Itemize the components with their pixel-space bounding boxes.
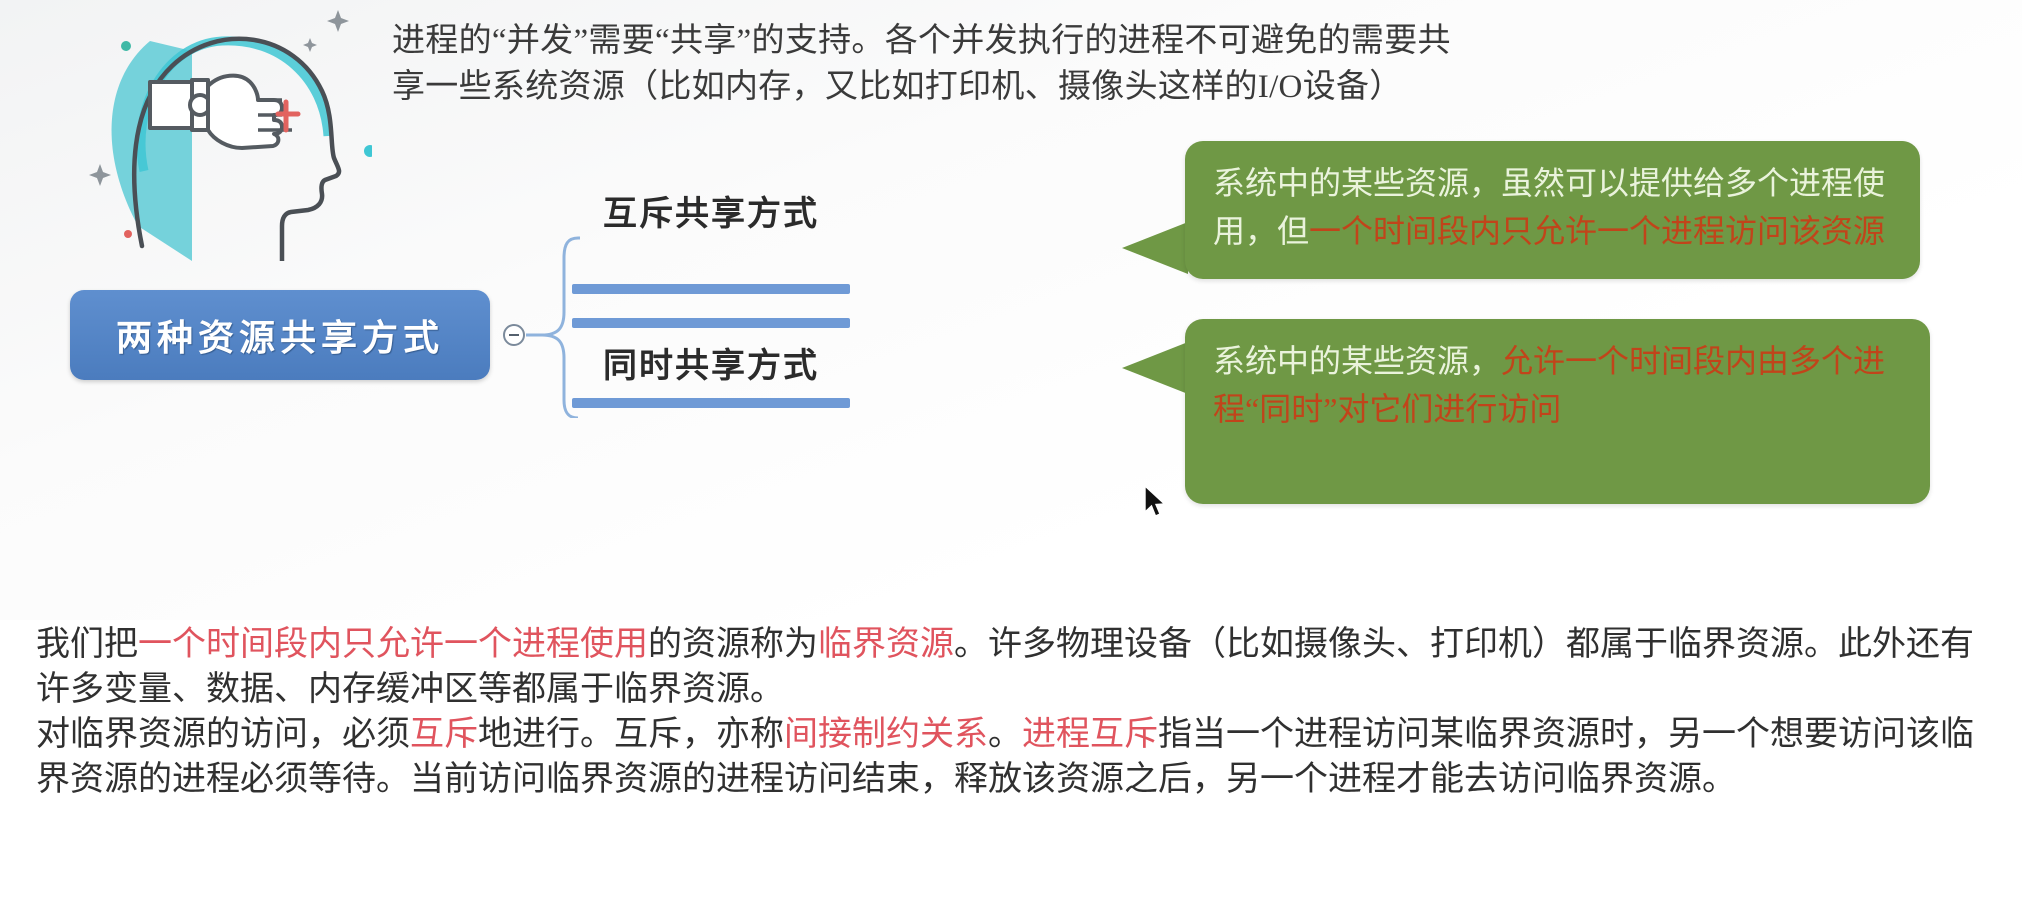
callout-text-plain: 系统中的某些资源， bbox=[1213, 343, 1501, 379]
head-with-fist-idea-illustration bbox=[42, 0, 372, 261]
p2-seg-3: 间接制约关系 bbox=[784, 716, 988, 753]
body-paragraph-1: 我们把一个时间段内只允许一个进程使用的资源称为临界资源。许多物理设备（比如摄像头… bbox=[36, 622, 2006, 712]
mindmap-branch-simultaneous[interactable]: 同时共享方式 bbox=[572, 318, 850, 374]
p2-seg-0: 对临界资源的访问，必须 bbox=[36, 716, 410, 753]
mindmap-branch-bar-top bbox=[572, 318, 850, 328]
p2-seg-1: 互斥 bbox=[410, 716, 478, 753]
callout-text-highlight: 一个时间段内只允许一个进程访问该资源 bbox=[1309, 213, 1885, 249]
callout-simultaneous-sharing: 系统中的某些资源，允许一个时间段内由多个进程“同时”对它们进行访问 bbox=[1185, 319, 1930, 504]
mindmap-root-node[interactable]: 两种资源共享方式 bbox=[70, 290, 490, 380]
mindmap-branch-mutual-exclusive[interactable]: 互斥共享方式 bbox=[572, 230, 850, 286]
callout-tail-mutual-exclusive bbox=[1122, 222, 1188, 274]
p2-seg-5: 进程互斥 bbox=[1022, 716, 1158, 753]
mindmap-branch-label: 同时共享方式 bbox=[572, 338, 850, 387]
p2-seg-2: 地进行。互斥，亦称 bbox=[478, 716, 784, 753]
callout-mutual-exclusive-sharing: 系统中的某些资源，虽然可以提供给多个进程使用，但一个时间段内只允许一个进程访问该… bbox=[1185, 141, 1920, 279]
body-text: 我们把一个时间段内只允许一个进程使用的资源称为临界资源。许多物理设备（比如摄像头… bbox=[36, 622, 2006, 802]
mindmap-branch-label: 互斥共享方式 bbox=[572, 186, 850, 235]
mindmap-branch-bar bbox=[572, 284, 850, 294]
callout-tail-simultaneous bbox=[1122, 342, 1188, 394]
p2-seg-4: 。 bbox=[988, 716, 1022, 753]
intro-paragraph-line-2: 享一些系统资源（比如内存，又比如打印机、摄像头这样的I/O设备） bbox=[392, 64, 1527, 110]
body-paragraph-2: 对临界资源的访问，必须互斥地进行。互斥，亦称间接制约关系。进程互斥指当一个进程访… bbox=[36, 712, 2006, 802]
mindmap-branch-bar bbox=[572, 398, 850, 408]
intro-paragraph-line-1: 进程的“并发”需要“共享”的支持。各个并发执行的进程不可避免的需要共 bbox=[392, 23, 1451, 59]
p1-seg-1: 一个时间段内只允许一个进程使用 bbox=[138, 626, 648, 663]
p1-seg-3: 临界资源 bbox=[818, 626, 954, 663]
mindmap-root-label: 两种资源共享方式 bbox=[116, 309, 444, 361]
p1-seg-2: 的资源称为 bbox=[648, 626, 818, 663]
mindmap: 两种资源共享方式 互斥共享方式 同时共享方式 bbox=[60, 228, 1170, 418]
intro-paragraph: 进程的“并发”需要“共享”的支持。各个并发执行的进程不可避免的需要共 享一些系统… bbox=[392, 18, 1527, 110]
mouse-pointer-icon bbox=[1143, 485, 1169, 521]
p1-seg-0: 我们把 bbox=[36, 626, 138, 663]
